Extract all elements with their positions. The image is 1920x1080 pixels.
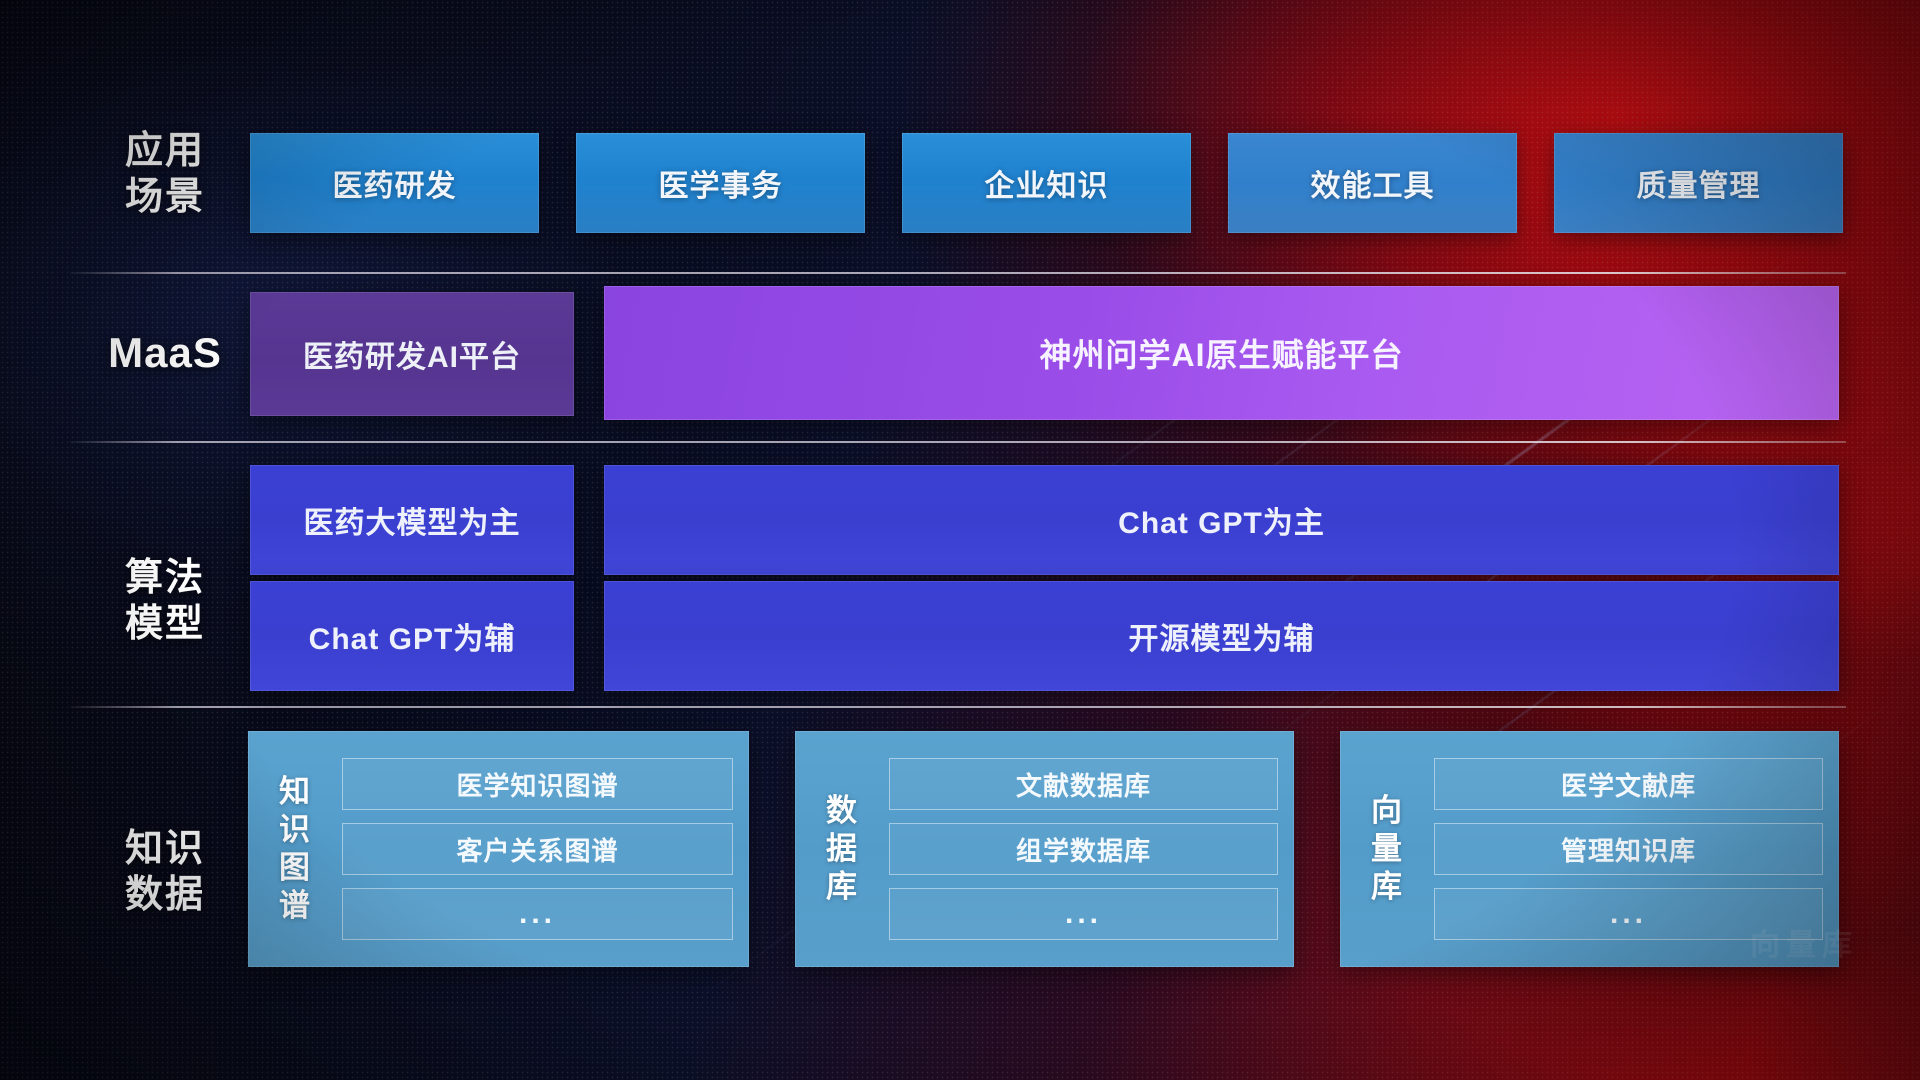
row-separator-3 [70,706,1846,708]
knowledge-group-database: 数 据 库 文献数据库 组学数据库 ... [795,731,1294,967]
algo-box-chatgpt-secondary[interactable]: Chat GPT为辅 [250,581,574,691]
algo-box-pharma-llm-primary[interactable]: 医药大模型为主 [250,465,574,575]
row-separator-1 [70,272,1846,274]
architecture-diagram: 应用 场景 医药研发 医学事务 企业知识 效能工具 质量管理 MaaS 医药研发… [0,0,1920,1080]
app-box-quality-management[interactable]: 质量管理 [1554,133,1843,233]
knowledge-group-items: 医学知识图谱 客户关系图谱 ... [328,758,733,940]
knowledge-group-title: 知 识 图 谱 [262,773,328,925]
app-box-enterprise-knowledge[interactable]: 企业知识 [902,133,1191,233]
knowledge-group-title: 向 量 库 [1354,792,1420,906]
app-box-pharma-rd[interactable]: 医药研发 [250,133,539,233]
row-label-application: 应用 场景 [90,128,240,220]
knowledge-group-items: 文献数据库 组学数据库 ... [875,758,1278,940]
row-label-maas: MaaS [90,330,240,376]
knowledge-item-more[interactable]: ... [1434,888,1823,940]
knowledge-item-medical-graph[interactable]: 医学知识图谱 [342,758,733,810]
knowledge-item-omics-db[interactable]: 组学数据库 [889,823,1278,875]
row-label-algorithm: 算法 模型 [90,555,240,647]
knowledge-item-management-kb[interactable]: 管理知识库 [1434,823,1823,875]
knowledge-item-customer-graph[interactable]: 客户关系图谱 [342,823,733,875]
layer-rows: 应用 场景 医药研发 医学事务 企业知识 效能工具 质量管理 MaaS 医药研发… [0,0,1920,1080]
application-scenario-boxes: 医药研发 医学事务 企业知识 效能工具 质量管理 [250,133,1843,233]
algo-box-chatgpt-primary[interactable]: Chat GPT为主 [604,465,1839,575]
knowledge-item-more[interactable]: ... [342,888,733,940]
knowledge-group-title: 数 据 库 [809,792,875,906]
knowledge-group-knowledge-graph: 知 识 图 谱 医学知识图谱 客户关系图谱 ... [248,731,749,967]
algo-box-opensource-secondary[interactable]: 开源模型为辅 [604,581,1839,691]
maas-box-shenzhou-platform[interactable]: 神州问学AI原生赋能平台 [604,286,1839,420]
row-label-knowledge: 知识 数据 [90,826,240,918]
row-separator-2 [70,441,1846,443]
app-box-medical-affairs[interactable]: 医学事务 [576,133,865,233]
knowledge-item-literature-db[interactable]: 文献数据库 [889,758,1278,810]
maas-box-pharma-ai-platform[interactable]: 医药研发AI平台 [250,292,574,416]
knowledge-item-medical-literature[interactable]: 医学文献库 [1434,758,1823,810]
app-box-efficiency-tools[interactable]: 效能工具 [1228,133,1517,233]
knowledge-group-vector-store: 向 量 库 医学文献库 管理知识库 ... [1340,731,1839,967]
knowledge-group-items: 医学文献库 管理知识库 ... [1420,758,1823,940]
knowledge-item-more[interactable]: ... [889,888,1278,940]
